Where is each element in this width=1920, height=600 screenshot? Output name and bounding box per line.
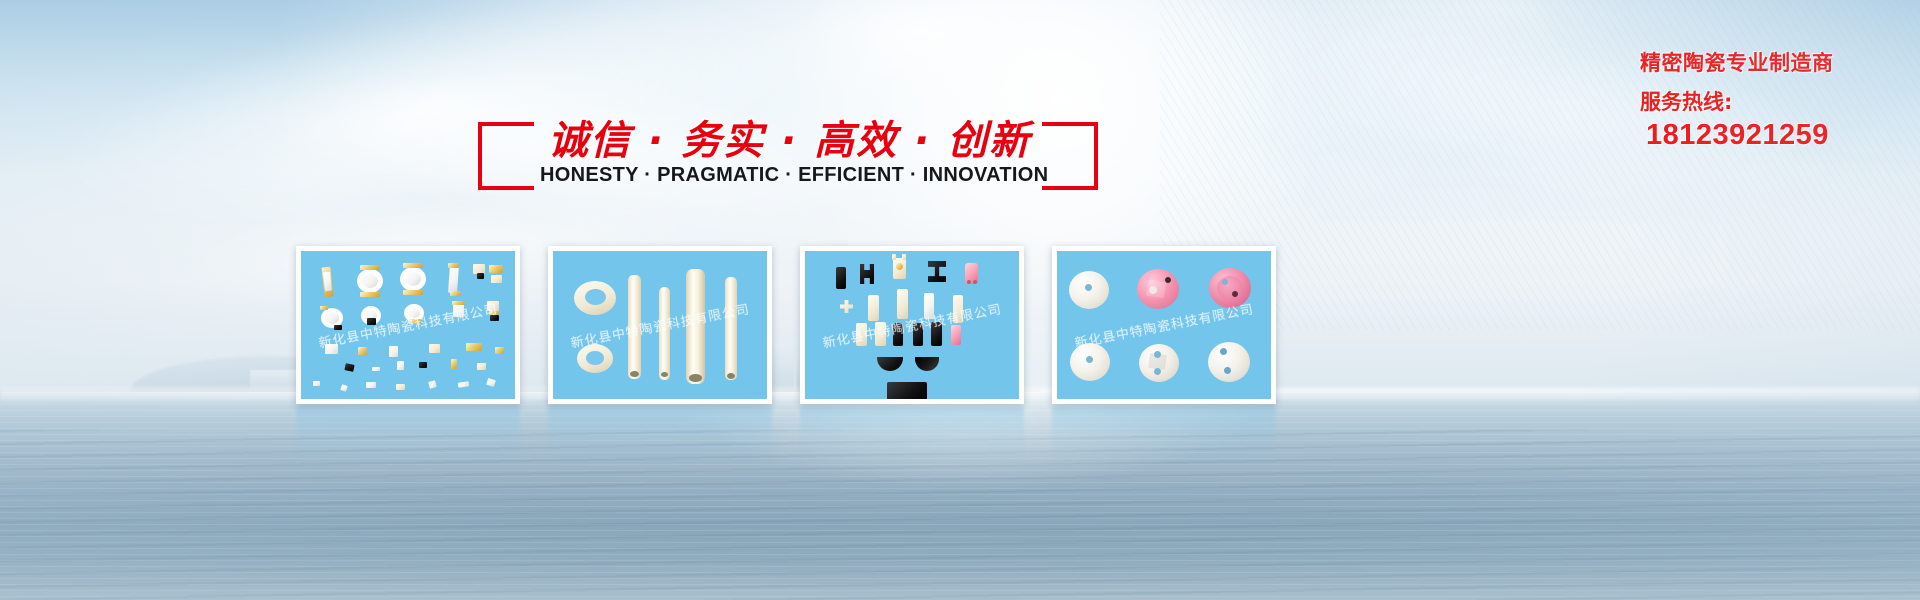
contact-block: 精密陶瓷专业制造商 服务热线: 18123921259 — [1640, 52, 1880, 151]
part — [495, 347, 504, 354]
panel-image-discs: 新化县中特陶瓷科技有限公司 — [1057, 251, 1271, 399]
product-panel-tubes[interactable]: 新化县中特陶瓷科技有限公司 — [548, 246, 772, 404]
part — [325, 344, 338, 354]
part — [924, 293, 934, 319]
slogan-english: HONESTY · PRAGMATIC · EFFICIENT · INNOVA… — [540, 164, 1040, 187]
part — [448, 265, 459, 294]
part-contact — [896, 263, 903, 270]
part — [397, 361, 404, 370]
part — [875, 322, 886, 346]
product-panel-discs[interactable]: 新化县中特陶瓷科技有限公司 — [1052, 246, 1276, 404]
ring-hole — [586, 351, 604, 365]
part — [451, 359, 457, 369]
panel-image-smd: 新化县中特陶瓷科技有限公司 — [301, 251, 515, 399]
part — [913, 323, 923, 346]
part — [458, 381, 470, 387]
part — [856, 323, 867, 346]
disc-recess — [1217, 276, 1243, 300]
disc-hole — [1224, 367, 1231, 374]
part — [409, 319, 421, 324]
part — [403, 290, 423, 295]
part — [953, 295, 963, 323]
part-hole — [967, 280, 971, 284]
part-h-shape — [860, 264, 874, 284]
part — [491, 275, 502, 283]
bracket-right-icon — [1094, 122, 1098, 190]
disc-hole — [1085, 284, 1092, 291]
banner-stage: 诚信 · 务实 · 高效 · 创新 HONESTY · PRAGMATIC · … — [0, 0, 1920, 600]
part — [372, 367, 380, 371]
part — [367, 318, 376, 325]
product-panel-smd[interactable]: 新化县中特陶瓷科技有限公司 — [296, 246, 520, 404]
part — [453, 303, 464, 317]
part-pin — [902, 254, 906, 260]
hotline-label: 服务热线: — [1640, 91, 1880, 114]
slogan-chinese: 诚信 · 务实 · 高效 · 创新 — [548, 108, 1030, 166]
disc-hole — [1222, 279, 1228, 285]
disc-hole — [1220, 348, 1227, 355]
part — [358, 347, 367, 355]
ceramic-tube — [628, 275, 641, 379]
part-curved — [915, 357, 939, 371]
hotline-number[interactable]: 18123921259 — [1646, 120, 1880, 150]
part — [320, 306, 328, 310]
part — [489, 265, 503, 273]
company-tagline: 精密陶瓷专业制造商 — [1640, 52, 1880, 75]
panel-reflection — [1052, 407, 1276, 465]
part — [893, 323, 903, 346]
panel-image-tubes: 新化县中特陶瓷科技有限公司 — [553, 251, 767, 399]
tube-bore — [727, 373, 735, 379]
part-pin — [892, 254, 896, 260]
bracket-left-icon — [478, 122, 524, 190]
part — [344, 363, 354, 372]
part — [868, 295, 879, 321]
part-hole — [973, 280, 977, 284]
tube-bore — [630, 371, 639, 377]
panel-reflection — [800, 407, 1024, 465]
part — [428, 380, 437, 389]
ring-hole — [585, 289, 606, 305]
ceramic-tube — [659, 287, 670, 380]
part — [360, 292, 380, 297]
product-panel-row: 新化县中特陶瓷科技有限公司 新化县中特陶瓷 — [296, 246, 1528, 406]
part-i-shape — [928, 261, 946, 282]
disc-hole — [1154, 368, 1161, 375]
part — [360, 265, 380, 270]
disc-hole — [1154, 351, 1161, 358]
part — [486, 378, 496, 387]
bracket-left-bottom-icon — [478, 186, 534, 190]
ceramic-disc — [1208, 342, 1250, 382]
part — [466, 343, 482, 351]
part — [487, 301, 499, 311]
panel-reflection — [548, 407, 772, 465]
part — [400, 267, 426, 291]
product-panel-parts[interactable]: 新化县中特陶瓷科技有限公司 — [800, 246, 1024, 404]
part-block — [887, 382, 927, 399]
tube-bore — [661, 372, 668, 377]
part — [419, 362, 427, 368]
part — [357, 269, 383, 293]
part — [450, 291, 461, 296]
disc-hole — [1165, 277, 1171, 283]
part — [931, 322, 942, 346]
part — [366, 382, 376, 388]
slogan-block: 诚信 · 务实 · 高效 · 创新 HONESTY · PRAGMATIC · … — [478, 108, 1098, 200]
part — [334, 325, 342, 330]
part — [396, 384, 405, 390]
part-cross — [840, 300, 853, 313]
part — [452, 301, 465, 305]
ceramic-tube — [725, 277, 737, 380]
part — [403, 263, 423, 268]
part — [429, 344, 440, 353]
bracket-right-top-icon — [1042, 122, 1098, 126]
part — [389, 346, 398, 357]
panel-image-parts: 新化县中特陶瓷科技有限公司 — [805, 251, 1019, 399]
part — [313, 381, 320, 386]
bracket-right-bottom-icon — [1042, 186, 1098, 190]
part — [836, 267, 846, 289]
part-curved — [877, 357, 903, 371]
panel-reflection — [296, 407, 520, 465]
tube-bore — [689, 374, 702, 382]
disc-hole — [1232, 291, 1238, 297]
part — [897, 289, 908, 319]
part — [477, 363, 486, 370]
part — [477, 273, 484, 279]
bracket-left-top-icon — [478, 122, 534, 126]
disc-hole — [1086, 356, 1093, 363]
ceramic-tube-large — [686, 269, 705, 384]
part — [340, 384, 348, 392]
part — [951, 325, 961, 345]
part — [490, 315, 499, 321]
disc-hole — [1149, 286, 1157, 294]
part — [448, 263, 459, 268]
